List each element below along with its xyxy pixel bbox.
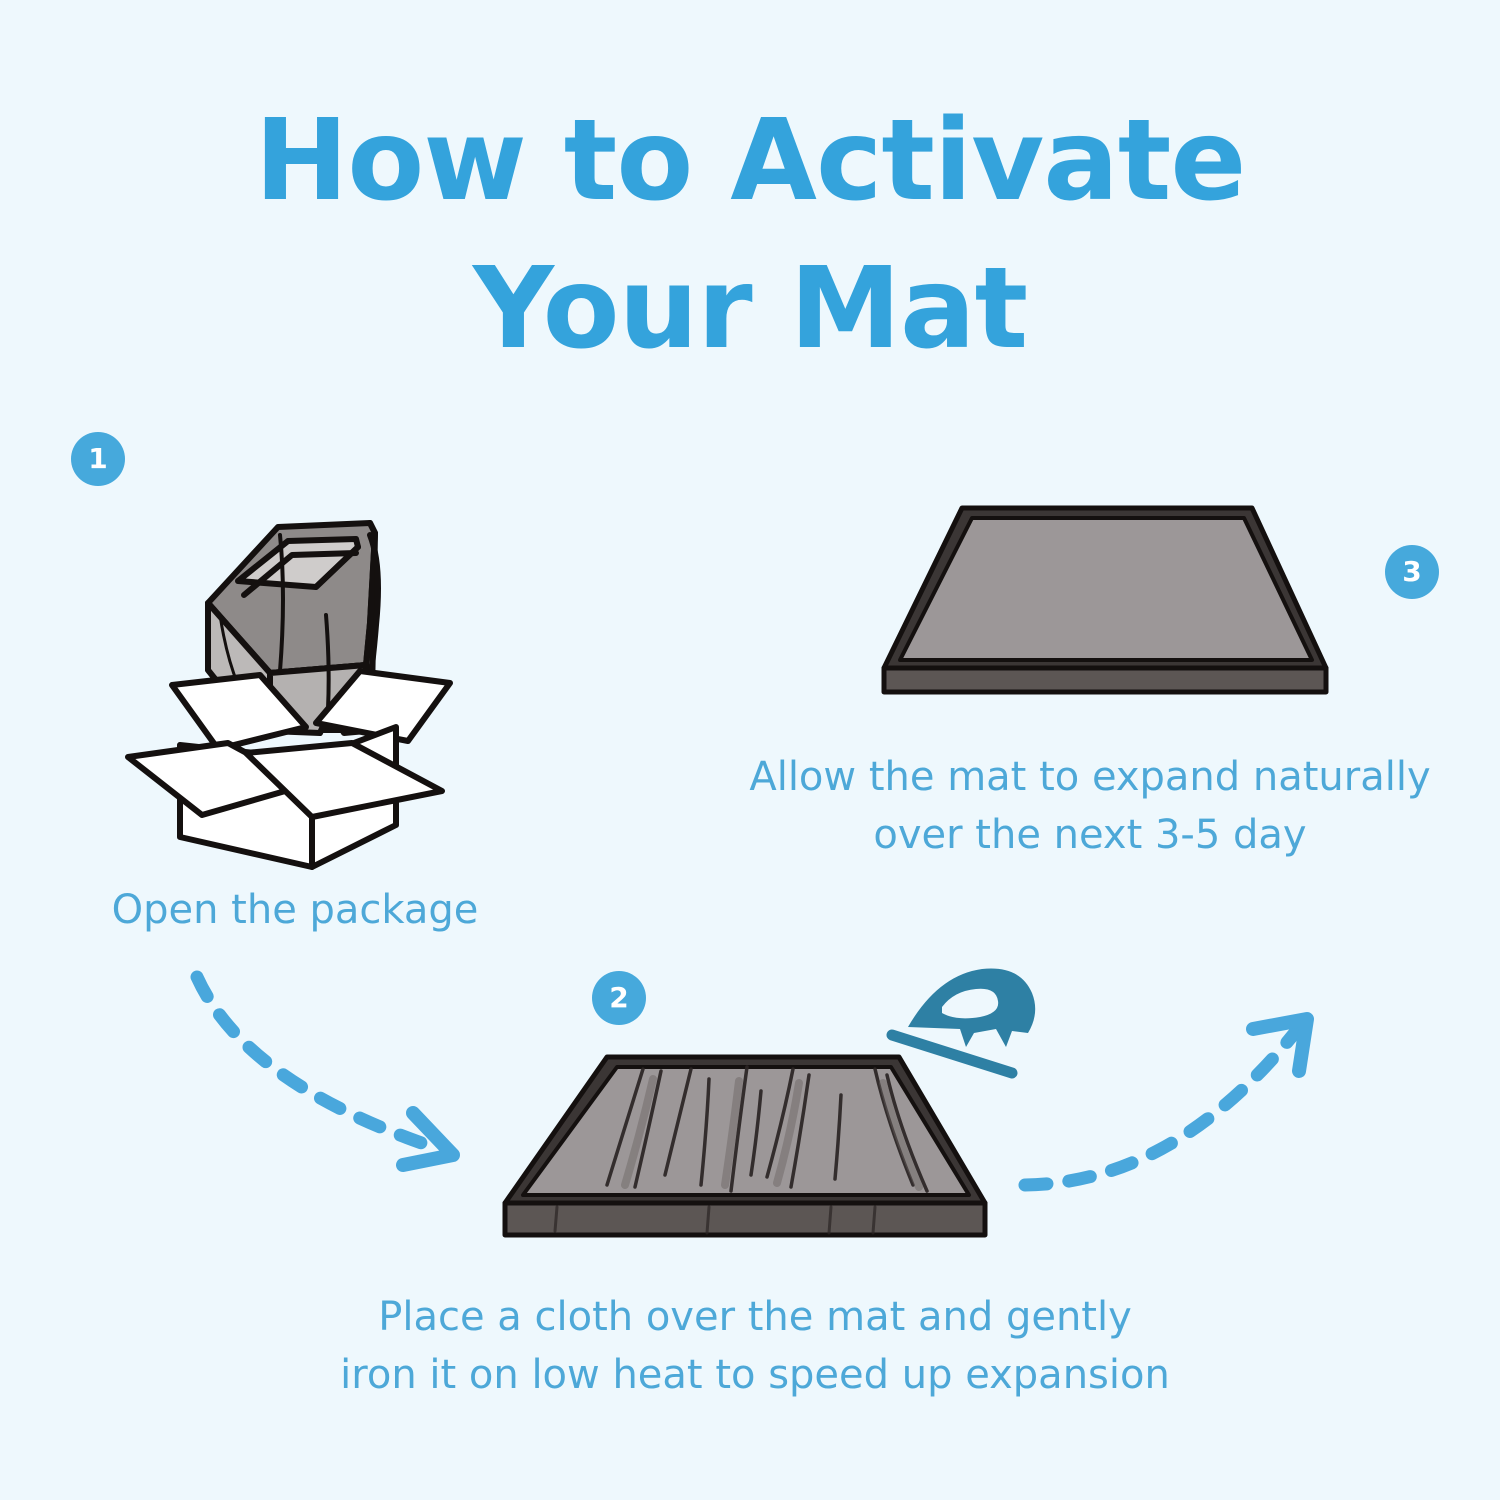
step-1-caption-line-1: Open the package bbox=[20, 881, 570, 939]
dashed-arrow-up-right-icon bbox=[995, 985, 1345, 1220]
step-2-caption-line-1: Place a cloth over the mat and gently bbox=[230, 1288, 1280, 1346]
dashed-arrow-down-right-icon bbox=[175, 965, 505, 1200]
step-badge-2: 2 bbox=[592, 971, 646, 1025]
step-3-caption-line-2: over the next 3-5 day bbox=[690, 806, 1490, 864]
step-3-caption: Allow the mat to expand naturally over t… bbox=[690, 748, 1490, 864]
step-2-caption: Place a cloth over the mat and gently ir… bbox=[230, 1288, 1280, 1404]
step-1-caption: Open the package bbox=[20, 881, 570, 939]
flat-mat-icon bbox=[860, 480, 1350, 710]
open-box-illustration bbox=[120, 495, 500, 870]
page-title-line-2: Your Mat bbox=[0, 236, 1500, 384]
step-3-caption-line-1: Allow the mat to expand naturally bbox=[690, 748, 1490, 806]
flat-mat-illustration bbox=[860, 480, 1350, 710]
wrinkled-mat-icon bbox=[495, 1035, 1015, 1275]
step-2-caption-line-2: iron it on low heat to speed up expansio… bbox=[230, 1346, 1280, 1404]
wrinkled-mat-illustration bbox=[495, 1035, 1015, 1275]
step-badge-3: 3 bbox=[1385, 545, 1439, 599]
page-title-line-1: How to Activate bbox=[0, 88, 1500, 236]
step-badge-1: 1 bbox=[71, 432, 125, 486]
arrow-step2-to-step3 bbox=[995, 985, 1345, 1220]
page-title: How to Activate Your Mat bbox=[0, 88, 1500, 384]
open-box-icon bbox=[120, 495, 500, 870]
arrow-step1-to-step2 bbox=[175, 965, 505, 1200]
infographic-canvas: How to Activate Your Mat 1 bbox=[0, 0, 1500, 1500]
